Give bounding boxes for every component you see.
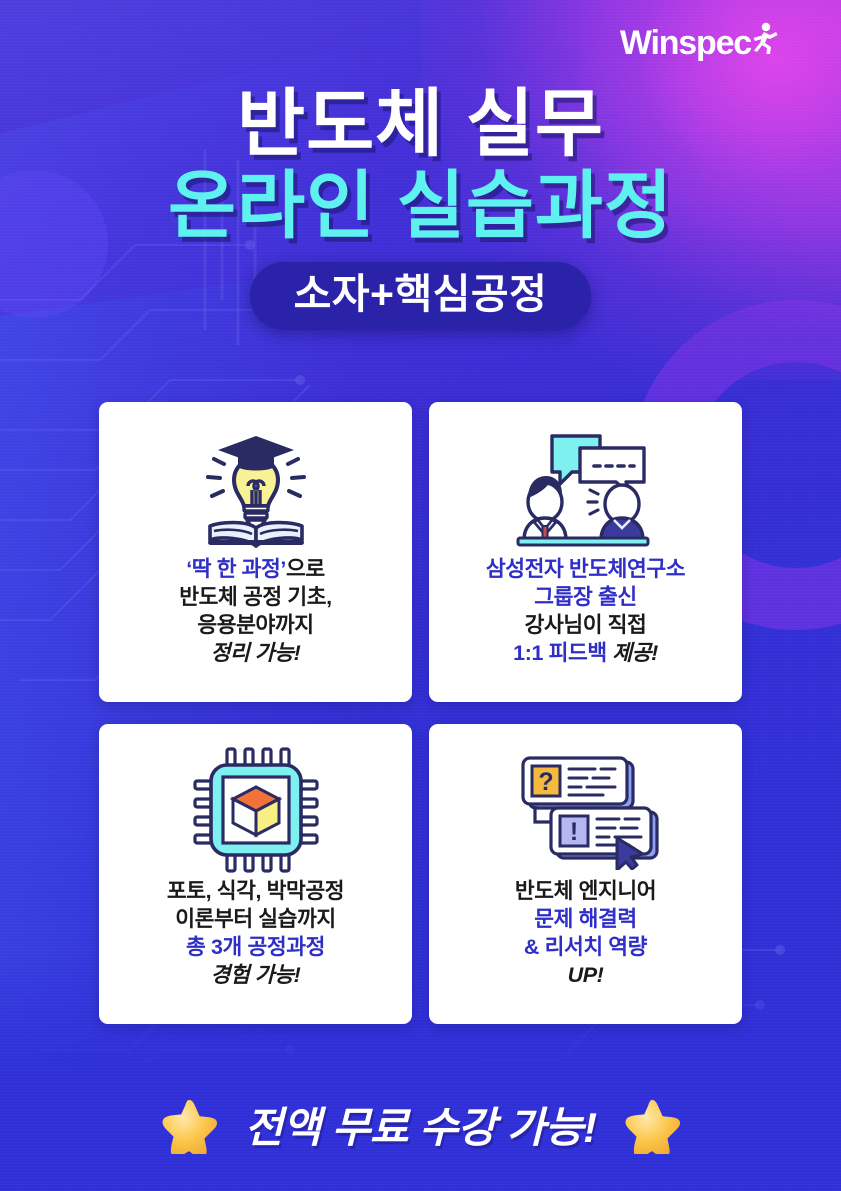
running-person-icon <box>749 22 779 56</box>
card-line: 포토, 식각, 박막공정 <box>167 878 344 906</box>
card-line: 이론부터 실습까지 <box>167 906 344 934</box>
card-line: 반도체 엔지니어 <box>515 878 656 906</box>
badge-container: 소자+핵심공정 <box>0 262 841 330</box>
card-line: 반도체 공정 기초, <box>179 584 331 612</box>
card-line: 그룹장 출신 <box>486 584 685 612</box>
feature-card-2[interactable]: 삼성전자 반도체연구소 그룹장 출신 강사님이 직접 1:1 피드백 제공! <box>429 402 742 702</box>
two-people-speech-bubbles-icon <box>510 424 662 552</box>
page-title-line2: 온라인 실습과정 <box>0 167 841 245</box>
card-line: & 리서치 역량 <box>515 934 656 962</box>
promo-banner: 전액 무료 수강 가능! <box>0 1094 841 1155</box>
star-icon <box>623 1096 681 1154</box>
card-line: 삼성전자 반도체연구소 <box>486 556 685 584</box>
feature-card-3[interactable]: 포토, 식각, 박막공정 이론부터 실습까지 총 3개 공정과정 경험 가능! <box>99 724 412 1024</box>
feature-card-1-text: ‘딱 한 과정’으로 반도체 공정 기초, 응용분야까지 정리 가능! <box>179 556 331 668</box>
microchip-cube-icon <box>193 746 319 874</box>
card-line: 총 3개 공정과정 <box>167 934 344 962</box>
brand-logo[interactable]: Winspec <box>620 26 779 60</box>
card-line: 응용분야까지 <box>179 612 331 640</box>
svg-text:?: ? <box>538 768 553 796</box>
brand-logo-text: Winspec <box>620 26 751 60</box>
feature-card-grid: ‘딱 한 과정’으로 반도체 공정 기초, 응용분야까지 정리 가능! <box>99 402 742 1024</box>
star-icon <box>160 1096 218 1154</box>
svg-text:!: ! <box>569 818 577 846</box>
card-line: 1:1 피드백 제공! <box>486 640 685 668</box>
card-line: 강사님이 직접 <box>486 612 685 640</box>
feature-card-3-text: 포토, 식각, 박막공정 이론부터 실습까지 총 3개 공정과정 경험 가능! <box>167 878 344 990</box>
title-block: 반도체 실무 온라인 실습과정 소자+핵심공정 <box>0 86 841 330</box>
feature-card-2-text: 삼성전자 반도체연구소 그룹장 출신 강사님이 직접 1:1 피드백 제공! <box>486 556 685 668</box>
card-line: ‘딱 한 과정’으로 <box>179 556 331 584</box>
promo-banner-text: 전액 무료 수강 가능! <box>244 1094 596 1155</box>
card-line: 문제 해결력 <box>515 906 656 934</box>
page-title-line1: 반도체 실무 <box>0 86 841 161</box>
card-line: UP! <box>515 962 656 990</box>
poster-root: Winspec 반도체 실무 온라인 실습과정 소자+핵심공정 <box>0 0 841 1191</box>
feature-card-4[interactable]: ? ! <box>429 724 742 1024</box>
subtitle-badge: 소자+핵심공정 <box>250 262 592 330</box>
feature-card-4-text: 반도체 엔지니어 문제 해결력 & 리서치 역량 UP! <box>515 878 656 990</box>
card-line: 경험 가능! <box>167 962 344 990</box>
card-line: 정리 가능! <box>179 640 331 668</box>
feature-card-1[interactable]: ‘딱 한 과정’으로 반도체 공정 기초, 응용분야까지 정리 가능! <box>99 402 412 702</box>
qa-cards-cursor-icon: ? ! <box>511 746 661 874</box>
graduation-lightbulb-book-icon <box>190 424 322 552</box>
